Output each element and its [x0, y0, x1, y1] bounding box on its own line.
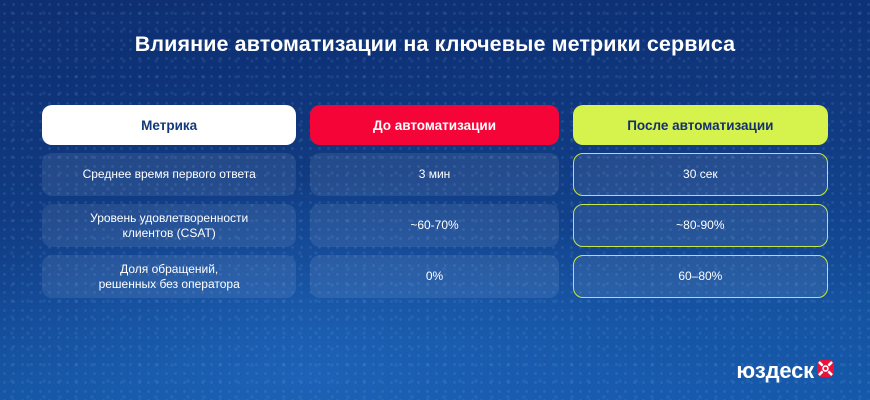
after-value-cell: 60–80%	[573, 255, 828, 298]
brand-logo-text: юздеск	[736, 358, 814, 384]
metric-name-cell: Доля обращений, решенных без оператора	[42, 255, 296, 298]
metric-name-line-1: Уровень удовлетворенности	[90, 211, 248, 226]
metric-name-cell: Уровень удовлетворенности клиентов (CSAT…	[42, 204, 296, 247]
slide-canvas: Влияние автоматизации на ключевые метрик…	[0, 0, 870, 400]
after-value-cell: 30 сек	[573, 153, 828, 196]
metric-name-line-2: решенных без оператора	[99, 277, 240, 292]
before-value-cell: ~60-70%	[310, 204, 558, 247]
page-title: Влияние автоматизации на ключевые метрик…	[0, 32, 870, 57]
table-header-row: Метрика До автоматизации После автоматиз…	[42, 105, 828, 145]
metric-name-cell: Среднее время первого ответа	[42, 153, 296, 196]
table-row: Доля обращений, решенных без оператора 0…	[42, 255, 828, 298]
metric-name-line-1: Доля обращений,	[99, 262, 240, 277]
metric-name-line-1: Среднее время первого ответа	[83, 167, 256, 182]
before-value-cell: 0%	[310, 255, 558, 298]
lifebuoy-icon	[817, 360, 834, 377]
table-row: Уровень удовлетворенности клиентов (CSAT…	[42, 204, 828, 247]
metrics-table: Метрика До автоматизации После автоматиз…	[42, 105, 828, 306]
column-header-after-automation: После автоматизации	[573, 105, 828, 145]
metric-name-line-2: клиентов (CSAT)	[90, 226, 248, 241]
table-row: Среднее время первого ответа 3 мин 30 се…	[42, 153, 828, 196]
before-value-cell: 3 мин	[310, 153, 558, 196]
after-value-cell: ~80-90%	[573, 204, 828, 247]
brand-logo: юздеск	[736, 358, 834, 384]
column-header-metric: Метрика	[42, 105, 296, 145]
column-header-before-automation: До автоматизации	[310, 105, 558, 145]
